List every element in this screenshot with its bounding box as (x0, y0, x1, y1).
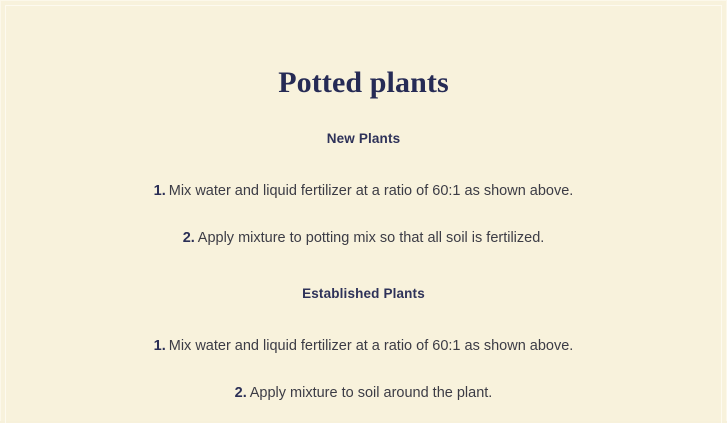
step-number: 2. (235, 385, 247, 401)
step-number: 2. (183, 230, 195, 246)
list-item: 1.Mix water and liquid fertilizer at a r… (0, 301, 727, 355)
step-line: 1.Mix water and liquid fertilizer at a r… (154, 338, 574, 355)
card-content: Potted plants New Plants 1.Mix water and… (0, 0, 727, 421)
step-text: Apply mixture to soil around the plant. (247, 385, 493, 401)
list-item: 2.Apply mixture to potting mix so that a… (0, 200, 727, 247)
step-number: 1. (154, 183, 166, 199)
list-item: 1.Mix water and liquid fertilizer at a r… (0, 146, 727, 200)
list-item: 2.Apply mixture to soil around the plant… (0, 355, 727, 402)
step-line: 2.Apply mixture to soil around the plant… (235, 385, 493, 402)
section-new-plants: New Plants 1.Mix water and liquid fertil… (0, 98, 727, 247)
step-line: 2.Apply mixture to potting mix so that a… (183, 230, 545, 247)
section-heading-new-plants: New Plants (0, 98, 727, 146)
step-text: Apply mixture to potting mix so that all… (195, 230, 545, 246)
step-text: Mix water and liquid fertilizer at a rat… (166, 338, 574, 354)
section-established-plants: Established Plants 1.Mix water and liqui… (0, 247, 727, 402)
step-list-established-plants: 1.Mix water and liquid fertilizer at a r… (0, 301, 727, 403)
section-heading-established-plants: Established Plants (0, 247, 727, 301)
step-list-new-plants: 1.Mix water and liquid fertilizer at a r… (0, 146, 727, 248)
step-number: 1. (154, 338, 166, 354)
step-line: 1.Mix water and liquid fertilizer at a r… (154, 183, 574, 200)
instruction-card: Potted plants New Plants 1.Mix water and… (0, 0, 727, 421)
step-text: Mix water and liquid fertilizer at a rat… (166, 183, 574, 199)
page-title: Potted plants (0, 0, 727, 98)
